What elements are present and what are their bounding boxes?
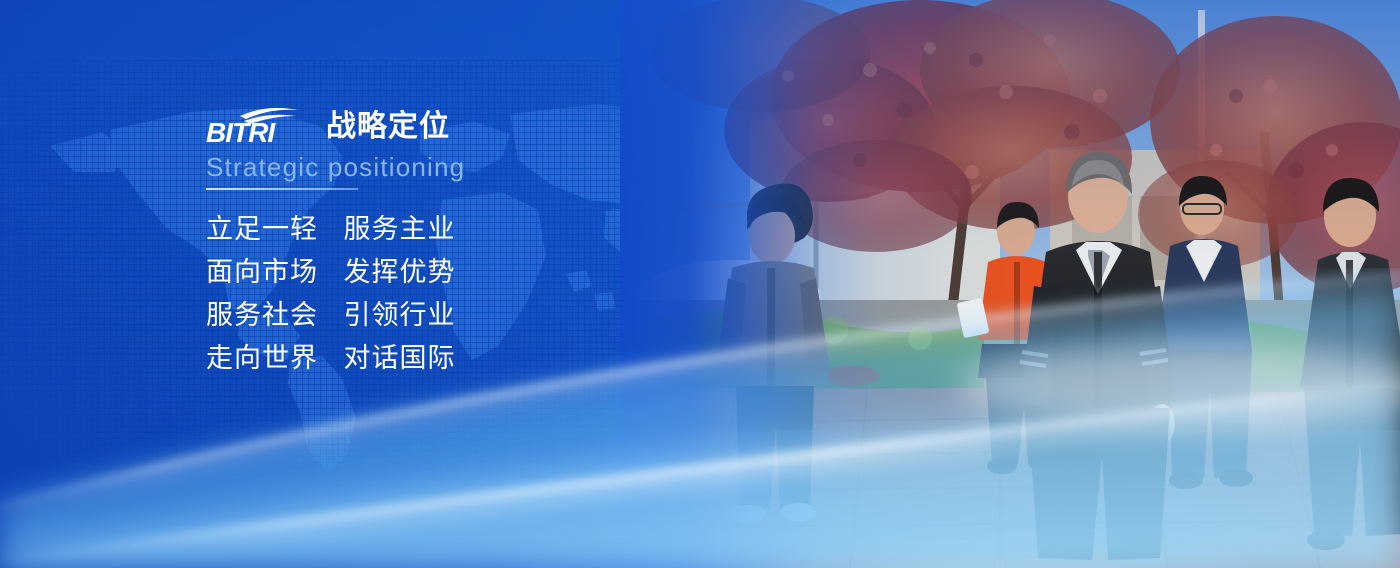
title-divider — [206, 188, 358, 190]
slogan-list: 立足一轻 服务主业 面向市场 发挥优势 服务社会 引领行业 走向世界 对话国际 — [206, 208, 646, 380]
title-row: BITRI 战略定位 — [206, 100, 646, 146]
slogan-line: 走向世界 对话国际 — [206, 337, 646, 380]
slogan-line: 面向市场 发挥优势 — [206, 251, 646, 294]
slogan-line: 服务社会 引领行业 — [206, 294, 646, 337]
banner-title-cn: 战略定位 — [326, 110, 450, 144]
slogan-line: 立足一轻 服务主业 — [206, 208, 646, 251]
people-walking-photo — [620, 0, 1400, 568]
bitri-logo[interactable]: BITRI — [206, 104, 310, 146]
banner-subtitle-en: Strategic positioning — [206, 152, 646, 182]
svg-text:BITRI: BITRI — [206, 117, 276, 146]
strategic-positioning-banner: BITRI 战略定位 Strategic positioning 立足一轻 服务… — [0, 0, 1400, 568]
banner-content: BITRI 战略定位 Strategic positioning 立足一轻 服务… — [206, 100, 646, 380]
